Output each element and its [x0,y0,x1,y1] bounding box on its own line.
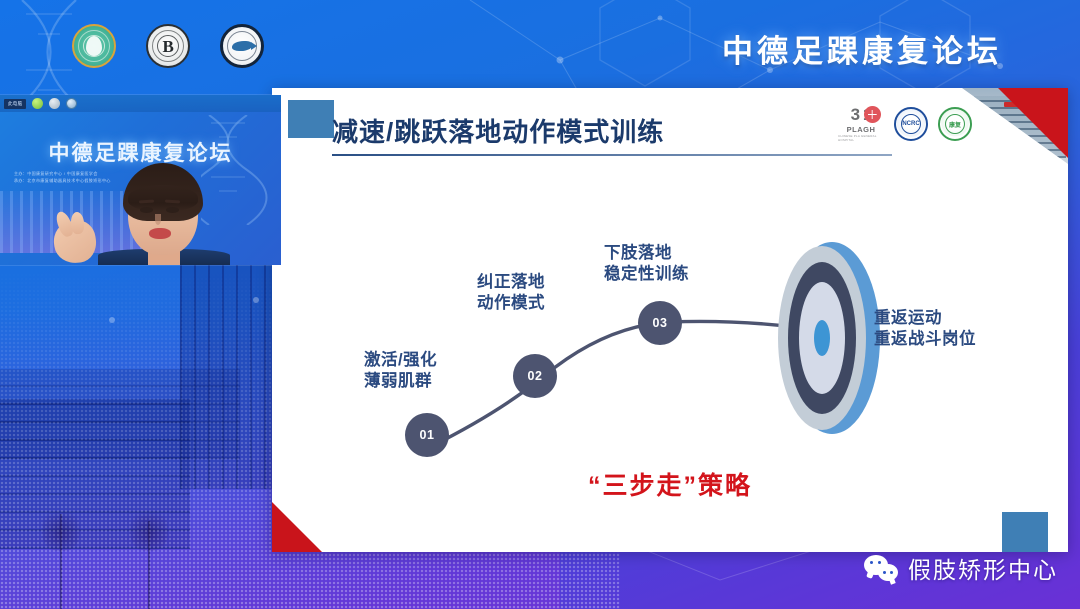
goal-line1: 重返运动 [874,308,976,329]
wechat-icon [864,555,898,581]
presenter-hand [54,207,98,263]
presenter-nose [155,214,161,225]
institute-seal-green-icon [72,24,116,68]
step-03-line2: 稳定性训练 [604,264,689,285]
screen-root: B 中德足踝康复论坛 中德足踝康复论坛 主办：中国康复研究中心 / 中国康复医学… [0,0,1080,609]
watermark: 假肢矫形中心 [864,551,1058,585]
presenter-figure [104,139,222,265]
strategy-caption: “三步走”策略 [272,466,1068,502]
gray-app-icon[interactable] [49,98,60,109]
institute-seal-navy-icon [220,24,264,68]
background-building-mid [0,369,240,459]
presenter-eye-left [140,207,153,213]
forum-title: 中德足踝康复论坛 [722,26,1002,71]
goal-line2: 重返战斗岗位 [874,329,976,350]
step-01-label: 激活/强化 薄弱肌群 [364,350,437,393]
background-building-left [0,399,190,549]
page-header: B 中德足踝康复论坛 [0,0,1080,92]
presenter-mouth [149,228,171,239]
step-01-line2: 薄弱肌群 [364,371,437,392]
watermark-text: 假肢矫形中心 [908,551,1058,585]
step-node-01[interactable]: 01 [405,413,449,457]
step-02-label: 纠正落地 动作模式 [477,272,545,315]
step-03-label: 下肢落地 稳定性训练 [604,243,689,286]
goal-label: 重返运动 重返战斗岗位 [874,308,976,351]
step-03-line1: 下肢落地 [604,243,689,264]
pip-taskbar-label: 此电脑 [4,99,26,109]
webcam-overlay[interactable]: 中德足踝康复论坛 主办：中国康复研究中心 / 中国康复医学会 承办：北京市康复辅… [0,95,281,265]
institute-seal-gray-icon: B [146,24,190,68]
browser-icon[interactable] [66,98,77,109]
step-01-line1: 激活/强化 [364,350,437,371]
green-app-icon[interactable] [32,98,43,109]
presenter-hair [123,163,203,221]
presenter-eye-right [166,207,179,213]
background-tree-2 [148,521,150,609]
header-logo-row: B [72,24,264,68]
presentation-slide[interactable]: 减速/跳跃落地动作模式训练 3 1 PLAGH CHINESE PLA GENE… [272,88,1068,552]
background-tree-1 [60,514,62,609]
step-node-02[interactable]: 02 [513,354,557,398]
three-step-diagram: 激活/强化 薄弱肌群 纠正落地 动作模式 下肢落地 稳定性训练 01 02 03… [272,88,1068,552]
step-02-line1: 纠正落地 [477,272,545,293]
pip-taskbar[interactable]: 此电脑 [0,95,281,112]
step-02-line2: 动作模式 [477,293,545,314]
step-node-03[interactable]: 03 [638,301,682,345]
